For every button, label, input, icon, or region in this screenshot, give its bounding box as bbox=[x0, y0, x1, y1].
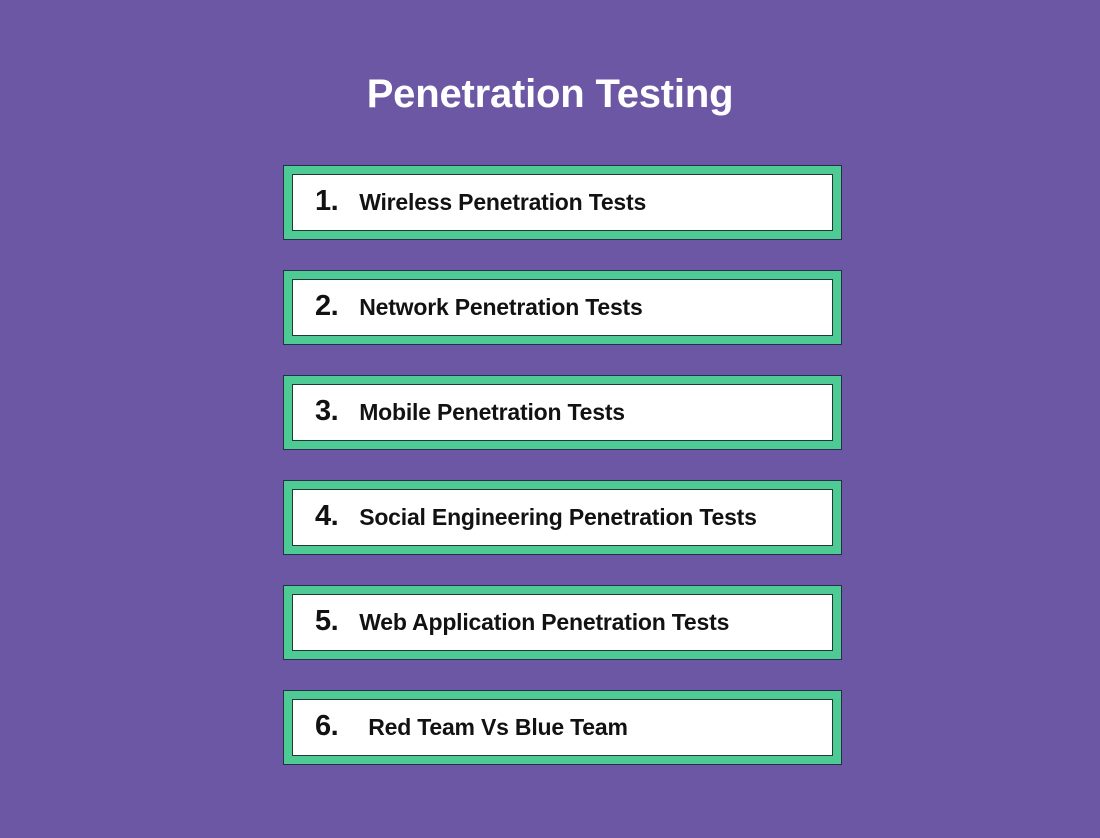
list-item[interactable]: 3. Mobile Penetration Tests bbox=[283, 375, 842, 450]
list-item-number: 2. bbox=[315, 292, 338, 323]
list-item-label: Mobile Penetration Tests bbox=[359, 401, 625, 424]
list-item-number: 5. bbox=[315, 607, 338, 638]
page-title: Penetration Testing bbox=[0, 70, 1100, 118]
list-item-number: 3. bbox=[315, 397, 338, 428]
list-item[interactable]: 4. Social Engineering Penetration Tests bbox=[283, 480, 842, 555]
list-item-label: Web Application Penetration Tests bbox=[359, 611, 729, 634]
list-item-label: Network Penetration Tests bbox=[359, 296, 642, 319]
list-item-inner: 5. Web Application Penetration Tests bbox=[292, 594, 833, 651]
list-item-inner: 3. Mobile Penetration Tests bbox=[292, 384, 833, 441]
list-item-inner: 1. Wireless Penetration Tests bbox=[292, 174, 833, 231]
list-item-label: Red Team Vs Blue Team bbox=[368, 716, 628, 739]
list-item-inner: 2. Network Penetration Tests bbox=[292, 279, 833, 336]
list-item[interactable]: 2. Network Penetration Tests bbox=[283, 270, 842, 345]
list-item-label: Wireless Penetration Tests bbox=[359, 191, 646, 214]
list-item[interactable]: 1. Wireless Penetration Tests bbox=[283, 165, 842, 240]
list-item-label: Social Engineering Penetration Tests bbox=[359, 506, 757, 529]
list-item[interactable]: 6. Red Team Vs Blue Team bbox=[283, 690, 842, 765]
list-item-number: 6. bbox=[315, 712, 338, 743]
slide-canvas: Penetration Testing 1. Wireless Penetrat… bbox=[0, 0, 1100, 838]
list-item-number: 1. bbox=[315, 187, 338, 218]
list-item-number: 4. bbox=[315, 502, 338, 533]
list-item-inner: 4. Social Engineering Penetration Tests bbox=[292, 489, 833, 546]
list-item-inner: 6. Red Team Vs Blue Team bbox=[292, 699, 833, 756]
penetration-testing-list: 1. Wireless Penetration Tests 2. Network… bbox=[283, 165, 842, 765]
list-item[interactable]: 5. Web Application Penetration Tests bbox=[283, 585, 842, 660]
